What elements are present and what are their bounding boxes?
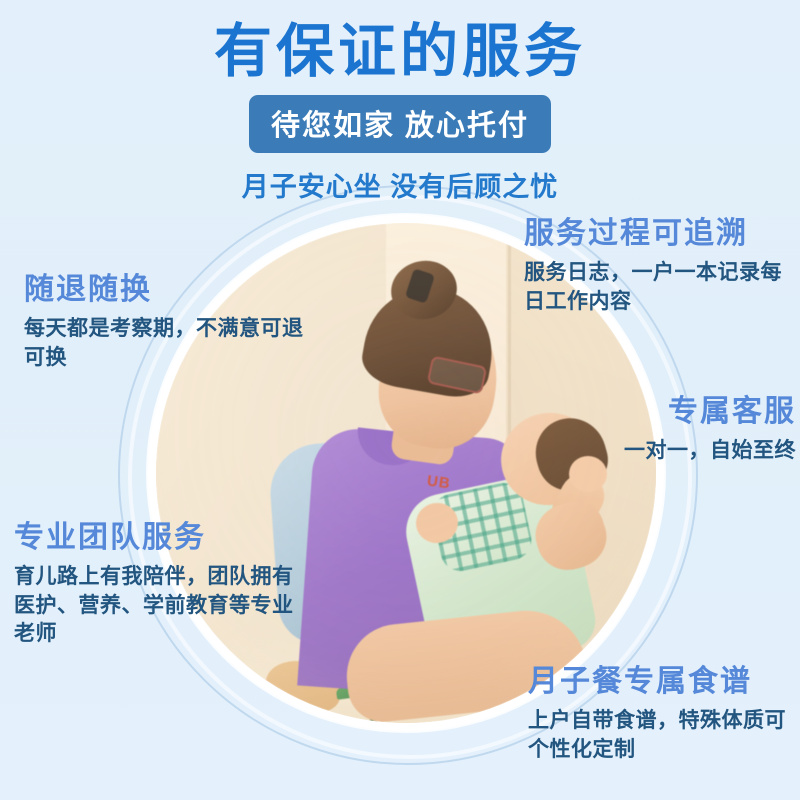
feature-trace-heading: 服务过程可追溯 xyxy=(524,216,786,252)
feature-support: 专属客服 一对一，自始至终 xyxy=(598,394,796,466)
feature-meal: 月子餐专属食谱 上户自带食谱，特殊体质可个性化定制 xyxy=(528,664,792,764)
feature-meal-body: 上户自带食谱，特殊体质可个性化定制 xyxy=(528,707,792,764)
feature-team: 专业团队服务 育儿路上有我陪伴，团队拥有医护、营养、学前教育等专业老师 xyxy=(14,520,314,649)
page-title: 有保证的服务 xyxy=(0,0,800,85)
poster-root: 有保证的服务 待您如家 放心托付 月子安心坐 没有后顾之忧 xyxy=(0,0,800,800)
feature-support-heading: 专属客服 xyxy=(598,394,796,430)
feature-support-body: 一对一，自始至终 xyxy=(598,437,796,466)
feature-trace: 服务过程可追溯 服务日志，一户一本记录每日工作内容 xyxy=(524,216,786,316)
feature-trace-body: 服务日志，一户一本记录每日工作内容 xyxy=(524,259,786,316)
feature-team-heading: 专业团队服务 xyxy=(14,520,314,556)
badge-container: 待您如家 放心托付 xyxy=(0,95,800,153)
header: 有保证的服务 待您如家 放心托付 月子安心坐 没有后顾之忧 xyxy=(0,0,800,204)
tagline-badge: 待您如家 放心托付 xyxy=(249,95,551,153)
feature-refund-body: 每天都是考察期，不满意可退可换 xyxy=(24,315,324,372)
feature-team-body: 育儿路上有我陪伴，团队拥有医护、营养、学前教育等专业老师 xyxy=(14,563,314,649)
feature-refund: 随退随换 每天都是考察期，不满意可退可换 xyxy=(24,272,324,372)
page-subtitle: 月子安心坐 没有后顾之忧 xyxy=(0,165,800,204)
feature-meal-heading: 月子餐专属食谱 xyxy=(528,664,792,700)
feature-refund-heading: 随退随换 xyxy=(24,272,324,308)
